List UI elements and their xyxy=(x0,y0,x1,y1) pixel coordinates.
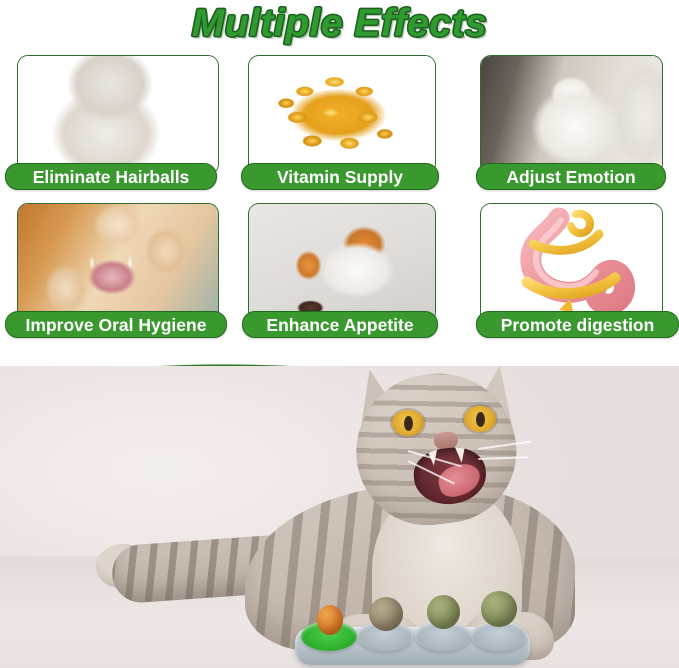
toy-ball-catnip-tan[interactable] xyxy=(369,597,403,631)
benefit-label-pill: Adjust Emotion xyxy=(476,163,666,190)
cat-eye-left xyxy=(392,410,424,436)
catnip-ball-holder-tray[interactable] xyxy=(295,609,530,665)
page-title-area: Multiple Effects xyxy=(0,0,679,48)
benefit-card-frame xyxy=(248,203,436,323)
cat-eye-right xyxy=(464,406,496,432)
benefit-label-pill: Eliminate Hairballs xyxy=(5,163,217,190)
benefit-card-adjust-emotion[interactable]: Adjust Emotion xyxy=(480,55,663,175)
fluffy-white-cat-grooming-photo xyxy=(18,56,218,174)
cat-fang-right xyxy=(455,446,467,463)
hero-scene xyxy=(0,366,679,668)
benefit-card-frame xyxy=(17,203,219,323)
toy-ball-catnip-green-1[interactable] xyxy=(427,595,460,629)
benefit-card-enhance-appetite[interactable]: Enhance Appetite xyxy=(248,203,436,323)
stomach-icon xyxy=(481,204,662,322)
stomach-with-ribbon-illustration xyxy=(481,204,662,322)
benefit-label-pill: Vitamin Supply xyxy=(241,163,439,190)
cat-eating-from-bowl-photo xyxy=(249,204,435,322)
infographic-page: Multiple Effects Eliminate Hairballs Vit… xyxy=(0,0,679,668)
benefit-card-promote-digestion[interactable]: Promote digestion xyxy=(480,203,663,323)
benefit-card-vitamin-supply[interactable]: Vitamin Supply xyxy=(248,55,436,175)
page-title: Multiple Effects xyxy=(192,2,488,46)
benefits-grid: Eliminate Hairballs Vitamin Supply Adjus… xyxy=(0,48,679,356)
toy-ball-catnip-green-2[interactable] xyxy=(481,591,517,627)
benefit-card-frame xyxy=(480,55,663,175)
benefit-card-improve-oral-hygiene[interactable]: Improve Oral Hygiene xyxy=(17,203,219,323)
benefit-label-pill: Enhance Appetite xyxy=(242,311,438,338)
benefit-label-pill: Promote digestion xyxy=(476,311,679,338)
benefit-card-frame xyxy=(480,203,663,323)
benefit-card-eliminate-hairballs[interactable]: Eliminate Hairballs xyxy=(17,55,219,175)
golden-softgel-capsules-photo xyxy=(249,56,435,174)
benefit-card-frame xyxy=(17,55,219,175)
benefit-label-pill: Improve Oral Hygiene xyxy=(5,311,227,338)
toy-ball-orange-treat[interactable] xyxy=(317,605,343,635)
cat-teeth-checkup-photo xyxy=(18,204,218,322)
calm-white-cat-photo xyxy=(481,56,662,174)
benefit-card-frame xyxy=(248,55,436,175)
